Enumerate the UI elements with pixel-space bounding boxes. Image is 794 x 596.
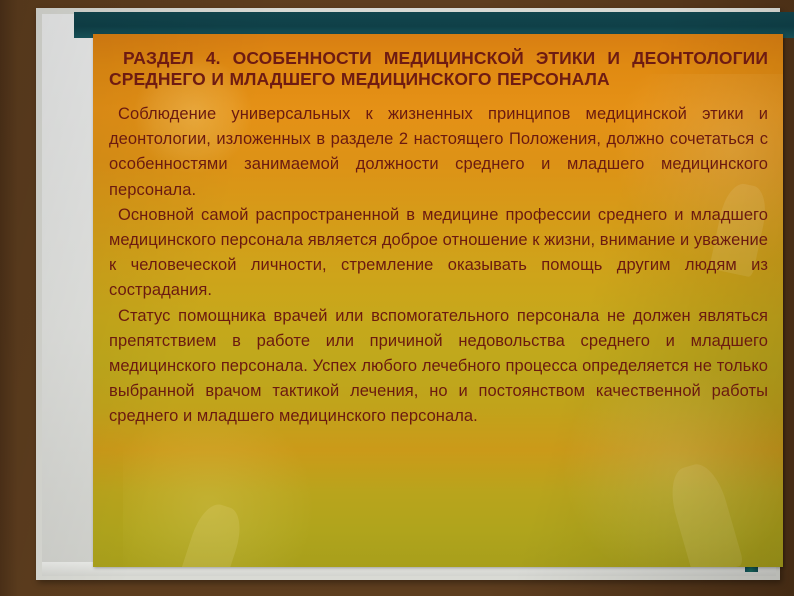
page-title: РАЗДЕЛ 4. ОСОБЕННОСТИ МЕДИЦИНСКОЙ ЭТИКИ …	[109, 48, 768, 90]
slide-backdrop: РАЗДЕЛ 4. ОСОБЕННОСТИ МЕДИЦИНСКОЙ ЭТИКИ …	[0, 0, 794, 596]
body-paragraph-3: Статус помощника врачей или вспомогатель…	[109, 304, 768, 430]
slide-card: РАЗДЕЛ 4. ОСОБЕННОСТИ МЕДИЦИНСКОЙ ЭТИКИ …	[36, 8, 780, 580]
watermark-glow-bottom-left	[123, 414, 313, 567]
watermark-ribbon-right	[664, 459, 744, 567]
watermark-ribbon-left	[174, 499, 247, 567]
slide-content-panel: РАЗДЕЛ 4. ОСОБЕННОСТИ МЕДИЦИНСКОЙ ЭТИКИ …	[93, 34, 783, 567]
slide-body: РАЗДЕЛ 4. ОСОБЕННОСТИ МЕДИЦИНСКОЙ ЭТИКИ …	[93, 34, 783, 430]
body-paragraph-2: Основной самой распространенной в медици…	[109, 203, 768, 304]
body-paragraph-1: Соблюдение универсальных к жизненных при…	[109, 102, 768, 203]
